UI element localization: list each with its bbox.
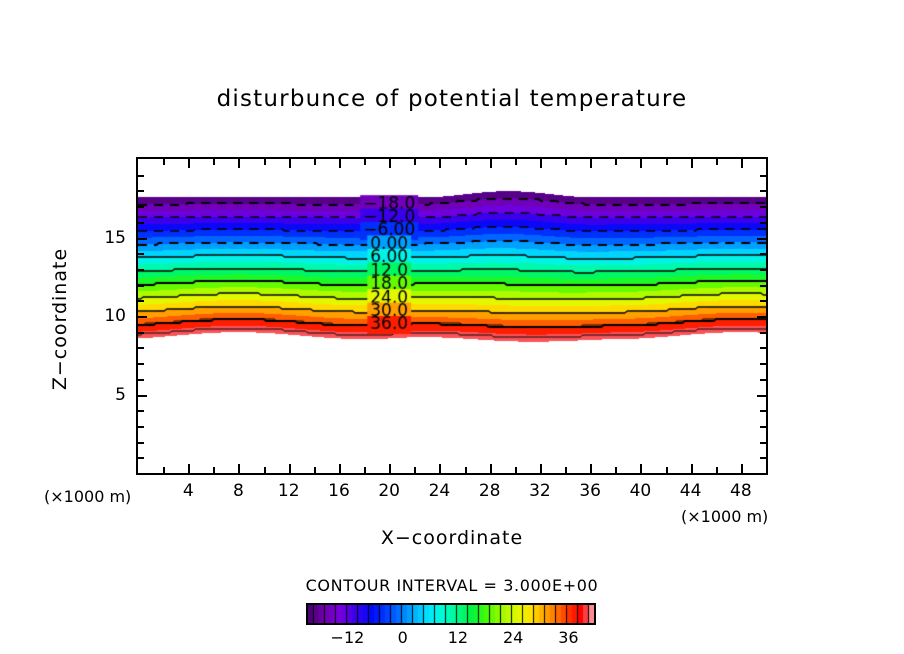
y-minor-tick xyxy=(138,347,144,349)
colorbar-tick-label: 36 xyxy=(548,628,588,647)
y-right-tick xyxy=(760,285,766,287)
colorbar-tick-label: 24 xyxy=(493,628,533,647)
x-top-tick xyxy=(389,159,391,168)
x-major-tick xyxy=(540,464,542,473)
y-right-tick xyxy=(760,426,766,428)
y-right-tick xyxy=(760,442,766,444)
plot-area xyxy=(136,157,768,475)
colorbar-tick-label: 12 xyxy=(438,628,478,647)
x-tick-label: 44 xyxy=(671,481,711,501)
x-major-tick xyxy=(490,464,492,473)
x-tick-label: 16 xyxy=(319,481,359,501)
y-right-tick xyxy=(760,175,766,177)
y-minor-tick xyxy=(138,222,144,224)
x-major-tick xyxy=(439,464,441,473)
x-top-tick xyxy=(264,159,266,165)
x-top-tick xyxy=(289,159,291,168)
x-minor-tick xyxy=(716,467,718,473)
x-major-tick xyxy=(389,464,391,473)
x-minor-tick xyxy=(314,467,316,473)
y-right-tick xyxy=(760,300,766,302)
x-major-tick xyxy=(741,464,743,473)
y-major-tick xyxy=(138,395,147,397)
y-tick-label: 5 xyxy=(96,385,126,405)
y-right-tick xyxy=(760,332,766,334)
y-minor-tick xyxy=(138,442,144,444)
y-right-tick xyxy=(760,410,766,412)
x-tick-label: 24 xyxy=(419,481,459,501)
y-right-tick xyxy=(760,379,766,381)
y-right-tick xyxy=(757,395,766,397)
y-minor-tick xyxy=(138,253,144,255)
y-right-tick xyxy=(760,269,766,271)
x-tick-label: 40 xyxy=(620,481,660,501)
x-top-tick xyxy=(691,159,693,168)
x-major-tick xyxy=(691,464,693,473)
x-top-tick xyxy=(716,159,718,165)
y-right-tick xyxy=(760,206,766,208)
y-minor-tick xyxy=(138,190,144,192)
x-major-tick xyxy=(289,464,291,473)
y-tick-label: 15 xyxy=(96,228,126,248)
x-tick-label: 28 xyxy=(470,481,510,501)
y-major-tick xyxy=(138,316,147,318)
y-right-tick xyxy=(760,190,766,192)
contour-field-canvas xyxy=(138,159,766,473)
y-right-tick xyxy=(757,316,766,318)
y-minor-tick xyxy=(138,206,144,208)
y-minor-tick xyxy=(138,410,144,412)
x-top-tick xyxy=(339,159,341,168)
x-tick-label: 32 xyxy=(520,481,560,501)
x-major-tick xyxy=(590,464,592,473)
x-top-tick xyxy=(515,159,517,165)
x-top-tick xyxy=(439,159,441,168)
y-minor-tick xyxy=(138,285,144,287)
x-minor-tick xyxy=(565,467,567,473)
x-top-tick xyxy=(163,159,165,165)
y-minor-tick xyxy=(138,175,144,177)
x-tick-label: 20 xyxy=(369,481,409,501)
y-right-tick xyxy=(760,457,766,459)
x-minor-tick xyxy=(666,467,668,473)
x-top-tick xyxy=(590,159,592,168)
x-minor-tick xyxy=(465,467,467,473)
colorbar xyxy=(306,603,596,625)
x-minor-tick xyxy=(264,467,266,473)
x-major-tick xyxy=(238,464,240,473)
x-top-tick xyxy=(238,159,240,168)
y-right-tick xyxy=(760,347,766,349)
x-tick-label: 12 xyxy=(269,481,309,501)
y-minor-tick xyxy=(138,457,144,459)
x-top-tick xyxy=(364,159,366,165)
y-minor-tick xyxy=(138,332,144,334)
y-tick-label: 10 xyxy=(96,306,126,326)
x-top-tick xyxy=(640,159,642,168)
page-title: disturbunce of potential temperature xyxy=(0,86,904,112)
x-tick-label: 8 xyxy=(218,481,258,501)
y-right-tick xyxy=(760,253,766,255)
x-top-tick xyxy=(615,159,617,165)
x-axis-unit-label: (×1000 m) xyxy=(681,507,768,526)
y-minor-tick xyxy=(138,300,144,302)
x-major-tick xyxy=(640,464,642,473)
y-minor-tick xyxy=(138,379,144,381)
colorbar-tick-label: 0 xyxy=(383,628,423,647)
y-major-tick xyxy=(138,238,147,240)
x-minor-tick xyxy=(213,467,215,473)
x-tick-label: 36 xyxy=(570,481,610,501)
x-top-tick xyxy=(465,159,467,165)
colorbar-tick-label: −12 xyxy=(327,628,367,647)
x-top-tick xyxy=(540,159,542,168)
contour-interval-label: CONTOUR INTERVAL = 3.000E+00 xyxy=(0,576,904,595)
y-right-tick xyxy=(760,363,766,365)
x-minor-tick xyxy=(414,467,416,473)
x-top-tick xyxy=(213,159,215,165)
x-top-tick xyxy=(188,159,190,168)
x-tick-label: 48 xyxy=(721,481,761,501)
x-minor-tick xyxy=(515,467,517,473)
x-top-tick xyxy=(565,159,567,165)
x-top-tick xyxy=(741,159,743,168)
x-top-tick xyxy=(490,159,492,168)
y-right-tick xyxy=(757,238,766,240)
x-minor-tick xyxy=(615,467,617,473)
y-minor-tick xyxy=(138,426,144,428)
x-top-tick xyxy=(414,159,416,165)
y-right-tick xyxy=(760,222,766,224)
x-tick-label: 4 xyxy=(168,481,208,501)
x-minor-tick xyxy=(364,467,366,473)
x-axis-title: X−coordinate xyxy=(0,527,904,549)
y-axis-title: Z−coordinate xyxy=(49,219,71,419)
colorbar-canvas xyxy=(308,605,594,623)
x-major-tick xyxy=(188,464,190,473)
x-major-tick xyxy=(339,464,341,473)
y-minor-tick xyxy=(138,269,144,271)
y-minor-tick xyxy=(138,363,144,365)
y-axis-unit-label: (×1000 m) xyxy=(44,487,131,506)
x-top-tick xyxy=(666,159,668,165)
x-top-tick xyxy=(314,159,316,165)
x-minor-tick xyxy=(163,467,165,473)
